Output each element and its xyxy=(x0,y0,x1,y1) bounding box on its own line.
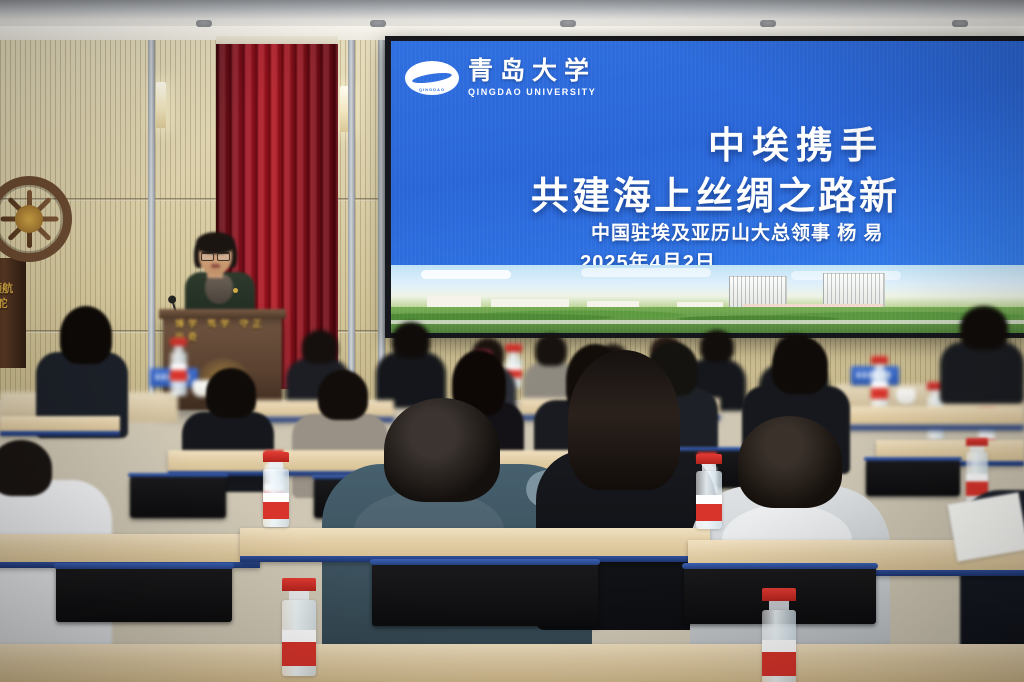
logo-name-en: QINGDAO UNIVERSITY xyxy=(468,87,596,97)
ceiling-spot-3 xyxy=(560,20,576,27)
ship-wheel-decoration: 领航舵 xyxy=(0,176,82,326)
photo-road xyxy=(391,320,1024,324)
speaker-glasses-icon xyxy=(201,252,230,258)
water-bottle-stage-left xyxy=(170,338,187,396)
speaker-lapel-pin-icon xyxy=(233,288,238,293)
speaker-scarf xyxy=(205,274,233,304)
wall-pillar-right xyxy=(348,40,355,400)
wall-sconce-left xyxy=(156,82,166,128)
chair-back-r3-left xyxy=(56,566,232,622)
teacup-stage-right xyxy=(896,388,916,405)
slide-title-line2: 共建海上丝绸之路新 xyxy=(531,165,900,220)
ship-wheel-inscription: 领航舵 xyxy=(0,282,14,312)
speaker-mouth xyxy=(211,264,220,268)
handout-papers xyxy=(948,492,1024,562)
water-bottle-front-right xyxy=(762,588,796,682)
led-screen-frame: QINGDAO 青岛大学 QINGDAO UNIVERSITY 中埃携手 共建海… xyxy=(385,36,1024,338)
logo-name-cn: 青岛大学 xyxy=(468,59,596,84)
desk-row-2-left xyxy=(0,416,120,436)
ceiling-spot-5 xyxy=(952,20,968,27)
desk-row-3-center xyxy=(240,528,710,562)
slide-subtitle: 中国驻埃及亚历山大总领事 杨 易 xyxy=(591,218,884,245)
lecture-hall-photo: QINGDAO 青岛大学 QINGDAO UNIVERSITY 中埃携手 共建海… xyxy=(0,0,1024,682)
desk-row-1-right xyxy=(848,406,1024,430)
chair-back-r2-4 xyxy=(866,460,960,496)
led-screen: QINGDAO 青岛大学 QINGDAO UNIVERSITY 中埃携手 共建海… xyxy=(391,41,1024,333)
ship-wheel-icon xyxy=(0,176,72,262)
water-bottle-front-left xyxy=(282,578,316,676)
wall-pillar-far-right xyxy=(378,40,385,400)
ship-wheel-hub xyxy=(15,205,43,233)
chair-back-r2-1 xyxy=(130,476,226,518)
ceiling-spot-1 xyxy=(196,20,212,27)
seal-mark-text: QINGDAO xyxy=(405,87,459,92)
campus-panorama-photo xyxy=(391,265,1024,333)
speaker-hair-top xyxy=(196,232,235,254)
slide-title-line1: 中埃携手 xyxy=(391,115,1024,169)
university-seal-icon: QINGDAO xyxy=(405,61,459,95)
water-bottle-mid-right xyxy=(696,454,722,529)
ship-wheel-pedestal xyxy=(0,258,26,368)
wall-pillar-left xyxy=(148,40,155,400)
photo-cloud-2 xyxy=(581,268,711,277)
qingdao-university-logo: QINGDAO 青岛大学 QINGDAO UNIVERSITY xyxy=(405,59,596,97)
water-bottle-mid-left xyxy=(263,452,289,527)
podium-motto-plate: 博学 笃学 守正 出奇 xyxy=(175,322,270,337)
ceiling-spot-2 xyxy=(370,20,386,27)
desk-row-4-front xyxy=(0,644,1024,682)
photo-cloud-1 xyxy=(421,270,511,279)
ceiling-spot-4 xyxy=(760,20,776,27)
chair-back-r3-center xyxy=(372,562,598,626)
